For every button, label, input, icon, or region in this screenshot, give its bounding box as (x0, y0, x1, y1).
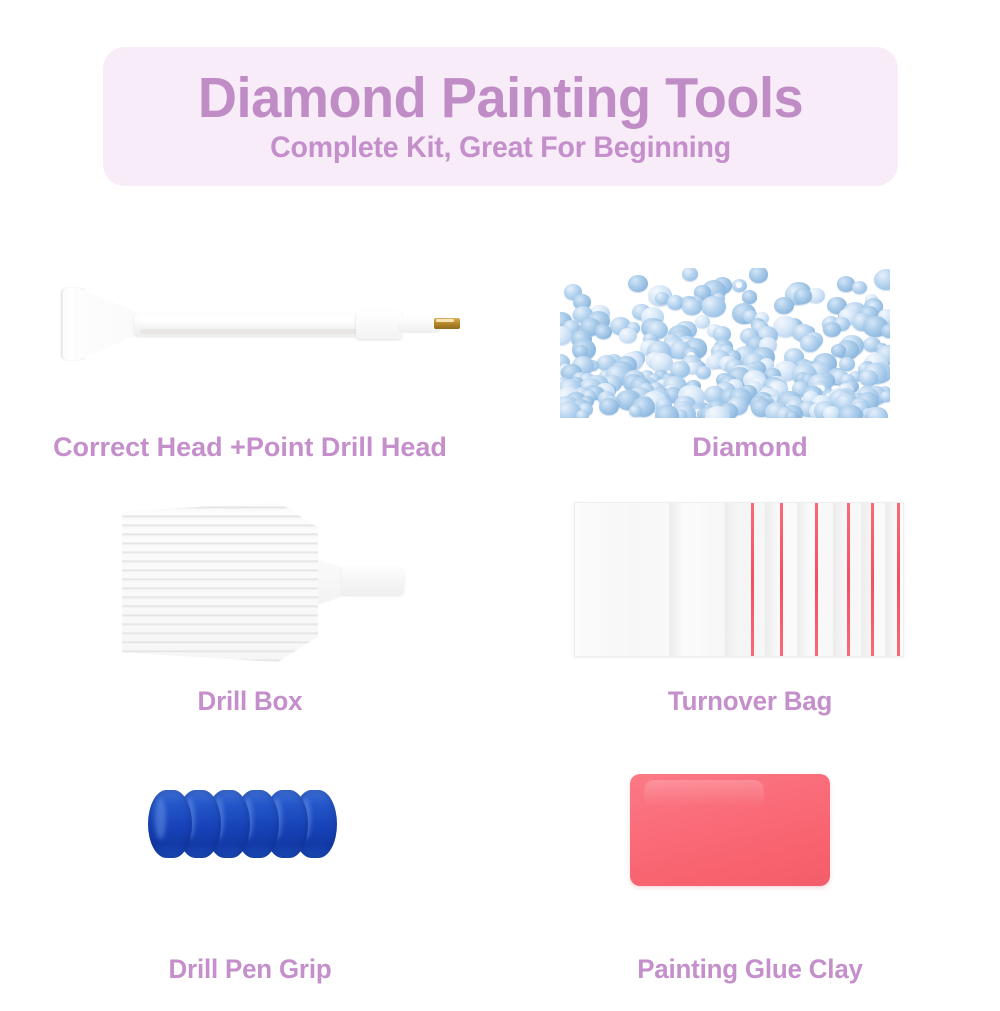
drill-bead (800, 335, 820, 352)
drill-bead (619, 328, 637, 344)
grip-illustration (148, 786, 348, 876)
drill-bead (881, 324, 890, 338)
drill-bead (859, 370, 878, 386)
tray-grooves (118, 502, 318, 662)
drill-bead (852, 281, 867, 294)
product-label-drill-pen-grip: Drill Pen Grip (10, 954, 490, 985)
drill-bead (742, 290, 758, 304)
drill-bead (682, 268, 698, 281)
pen-shaft-shadow (140, 329, 358, 334)
glue-clay-highlight (644, 780, 764, 806)
product-grid: Correct Head +Point Drill Head Diamond D… (0, 200, 1000, 1000)
bag-fold (833, 503, 847, 657)
pen-shaft-highlight (140, 317, 355, 322)
drills-illustration (560, 268, 890, 418)
diamond-drills-pile-icon (500, 226, 1000, 416)
drill-bead (576, 410, 589, 418)
product-cell-diamond: Diamond (500, 226, 1000, 479)
bag-seal-stripe (815, 503, 818, 657)
striped-plastic-bag-icon (500, 490, 1000, 680)
drill-bead (560, 326, 572, 345)
drill-bead (732, 279, 747, 292)
product-label-painting-glue-clay: Painting Glue Clay (510, 954, 990, 985)
page-subtitle: Complete Kit, Great For Beginning (270, 131, 731, 164)
header-banner: Diamond Painting Tools Complete Kit, Gre… (103, 47, 898, 186)
drill-bead (629, 405, 642, 416)
product-cell-drill-pen-grip: Drill Pen Grip (0, 758, 500, 1011)
bag-fold (725, 503, 739, 657)
drill-bead (696, 366, 712, 379)
bag-seal-stripe (780, 503, 783, 657)
bag-body (574, 502, 904, 657)
product-cell-correct-head-point-drill-head: Correct Head +Point Drill Head (0, 226, 500, 479)
product-label-turnover-bag: Turnover Bag (510, 686, 990, 717)
grooved-drill-tray-icon (0, 490, 500, 680)
pen-collar (356, 311, 402, 339)
drill-bead (867, 407, 888, 418)
drill-bead (749, 268, 768, 283)
bag-fold (765, 503, 779, 657)
page-title: Diamond Painting Tools (198, 69, 803, 129)
bag-fold (669, 503, 683, 657)
product-label-diamond: Diamond (500, 432, 1000, 463)
pen-head-flare (78, 288, 140, 360)
product-cell-turnover-bag: Turnover Bag (500, 490, 1000, 743)
pink-glue-clay-icon (500, 758, 1000, 948)
product-cell-drill-box: Drill Box (0, 490, 500, 743)
drill-bead (595, 325, 612, 339)
drill-bead (774, 297, 794, 314)
pen-gold-tip-highlight (436, 319, 454, 322)
product-label-correct-head-point-drill-head: Correct Head +Point Drill Head (0, 432, 500, 463)
drill-bead (823, 322, 841, 337)
diamond-painting-pen-icon (0, 226, 500, 416)
tray-illustration (118, 502, 408, 670)
bag-seal-stripe (847, 503, 850, 657)
grip-segment (148, 790, 192, 858)
pen-illustration (20, 284, 480, 364)
bag-illustration (574, 502, 904, 660)
bag-seal-stripe (897, 503, 900, 657)
blue-foam-grip-icon (0, 758, 500, 948)
tray-handle (342, 567, 404, 595)
drill-bead (599, 398, 619, 415)
drill-bead (880, 391, 890, 402)
drill-bead (785, 411, 798, 418)
bag-seal-stripe (751, 503, 754, 657)
drill-bead (701, 296, 726, 317)
product-label-drill-box: Drill Box (10, 686, 490, 717)
drill-bead (682, 299, 701, 316)
bag-seal-stripe (871, 503, 874, 657)
drill-bead (874, 269, 890, 290)
product-cell-painting-glue-clay: Painting Glue Clay (500, 758, 1000, 1011)
drill-bead (794, 288, 812, 304)
drill-bead (628, 275, 648, 292)
bag-fold (797, 503, 811, 657)
